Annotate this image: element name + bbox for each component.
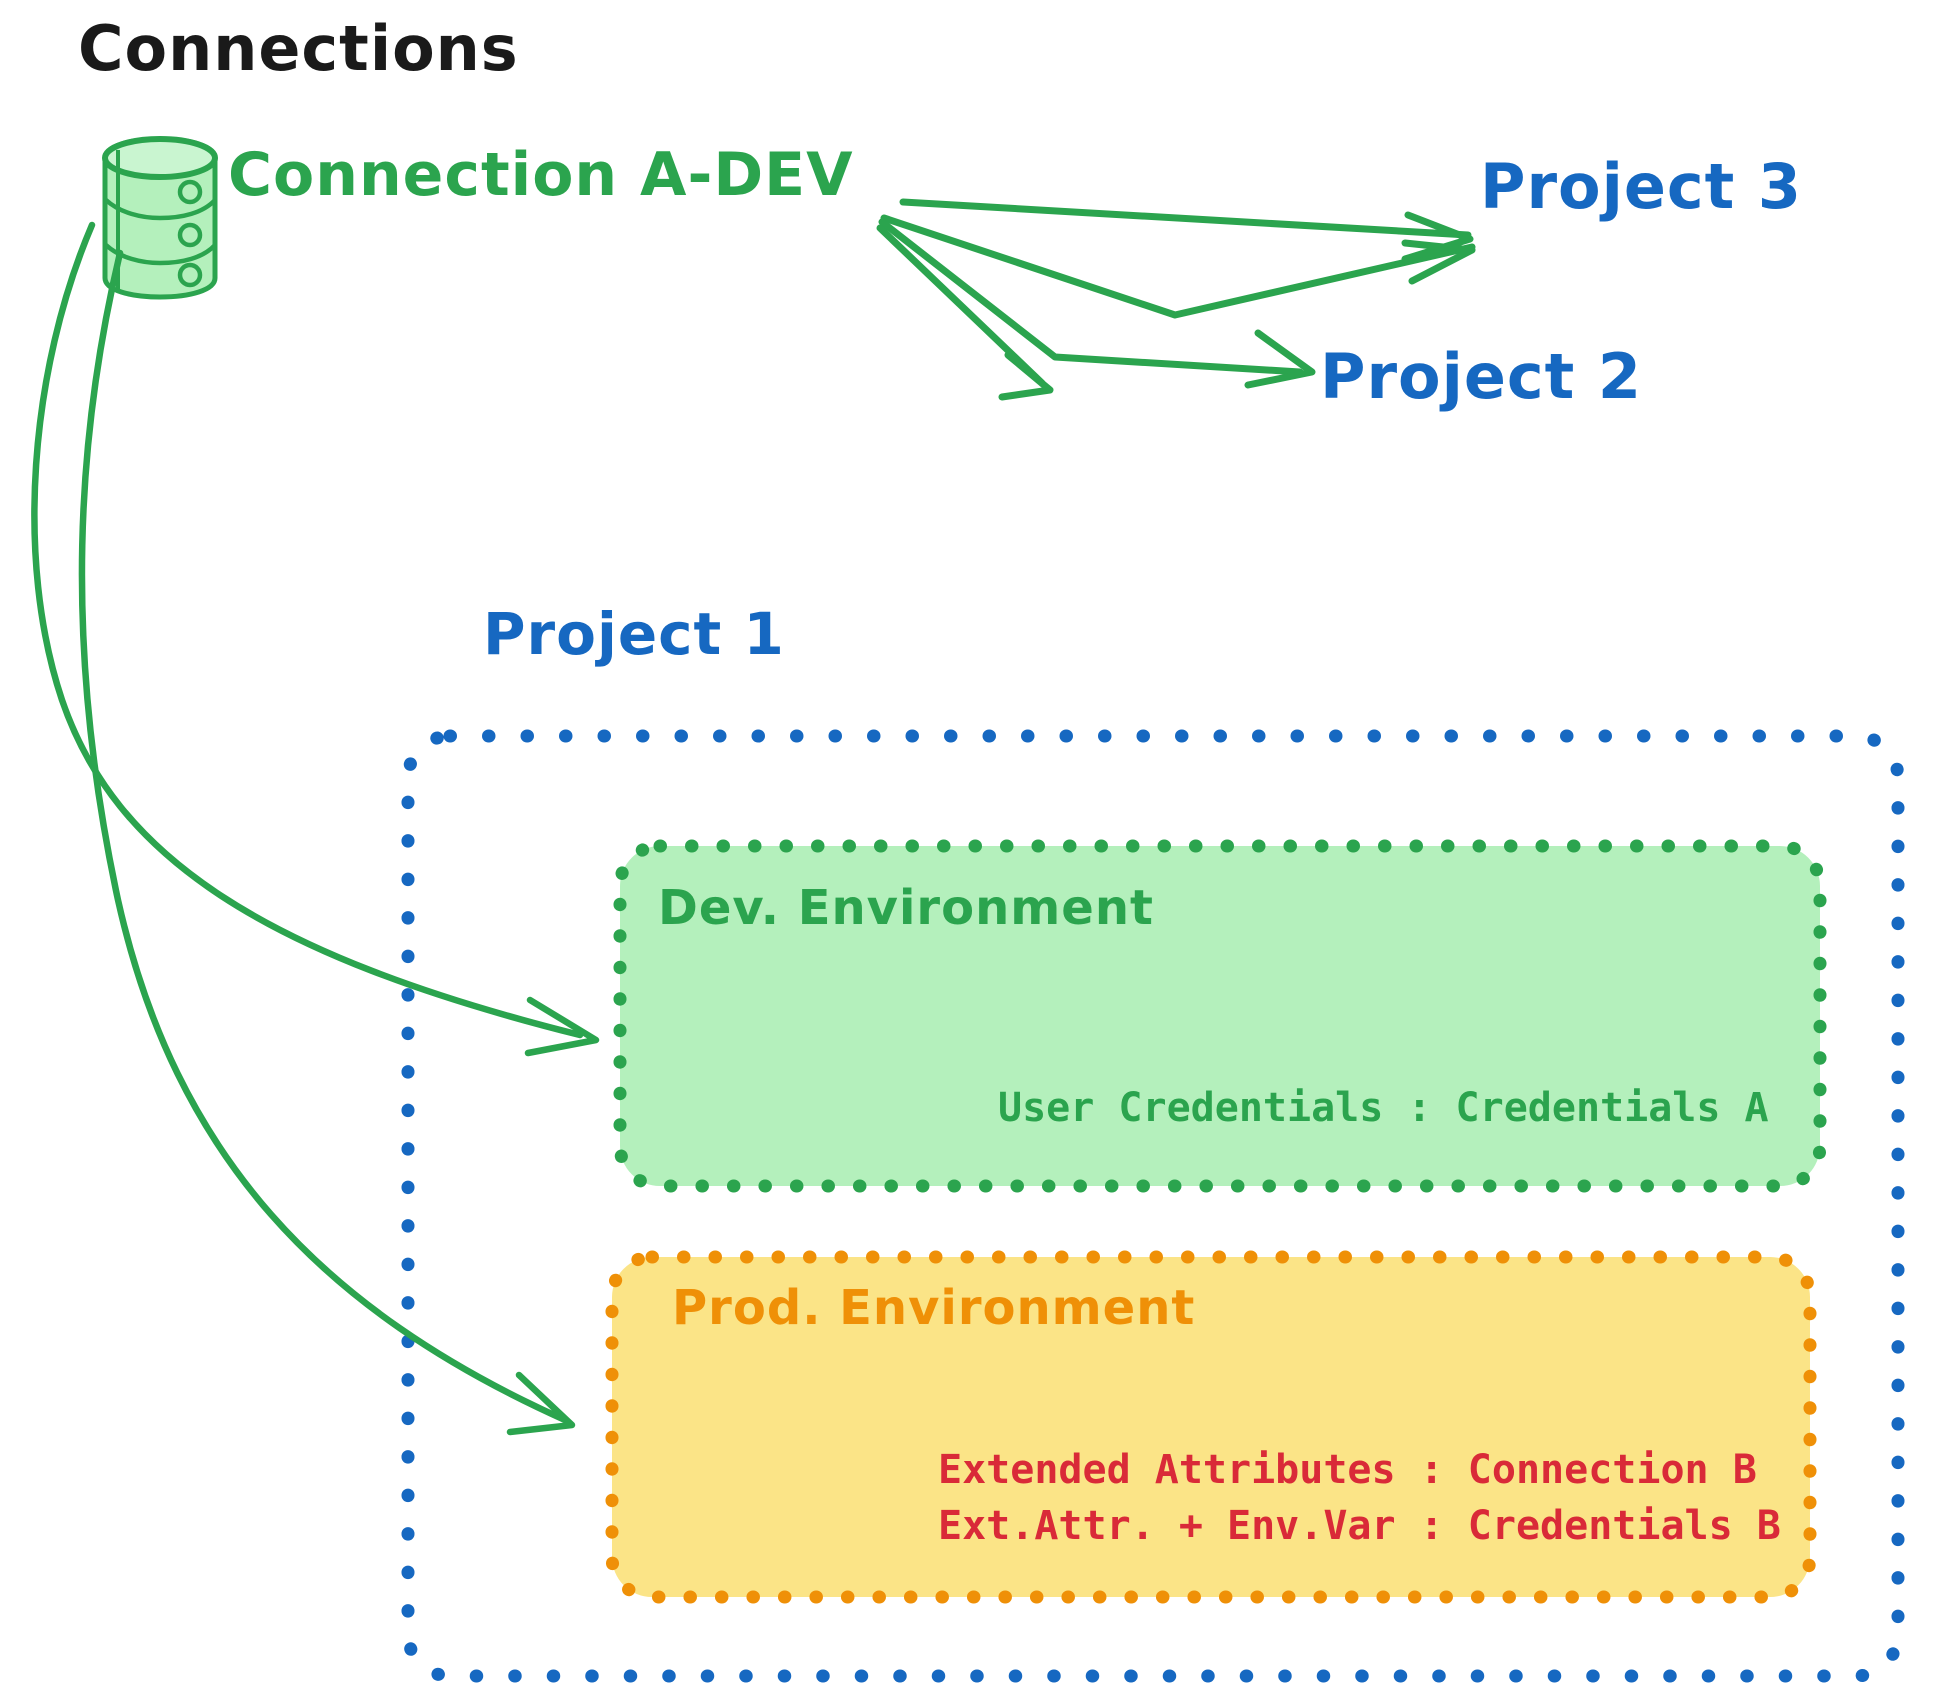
connection-label[interactable]: Connection A-DEV: [228, 140, 854, 210]
project-2-label[interactable]: Project 2: [1320, 340, 1642, 413]
project-3-label[interactable]: Project 3: [1480, 150, 1802, 223]
project-1-label[interactable]: Project 1: [483, 600, 785, 668]
database-cylinder-icon: [105, 139, 215, 297]
edge-conn-to-project3: [884, 202, 1472, 315]
edge-conn-to-project2: [880, 222, 1312, 397]
prod-extended-attributes-row: Extended Attributes : Connection B: [938, 1447, 1757, 1493]
diagram-vector-layer: [0, 0, 1938, 1691]
dev-user-credentials-row: User Credentials : Credentials A: [998, 1085, 1769, 1131]
prod-ext-attr-env-var-row: Ext.Attr. + Env.Var : Credentials B: [938, 1503, 1781, 1549]
diagram-canvas: Connections Connection A-DEV Project 3 P…: [0, 0, 1938, 1691]
page-title: Connections: [78, 12, 519, 85]
prod-environment-label: Prod. Environment: [672, 1280, 1195, 1336]
dev-environment-label: Dev. Environment: [658, 880, 1154, 936]
